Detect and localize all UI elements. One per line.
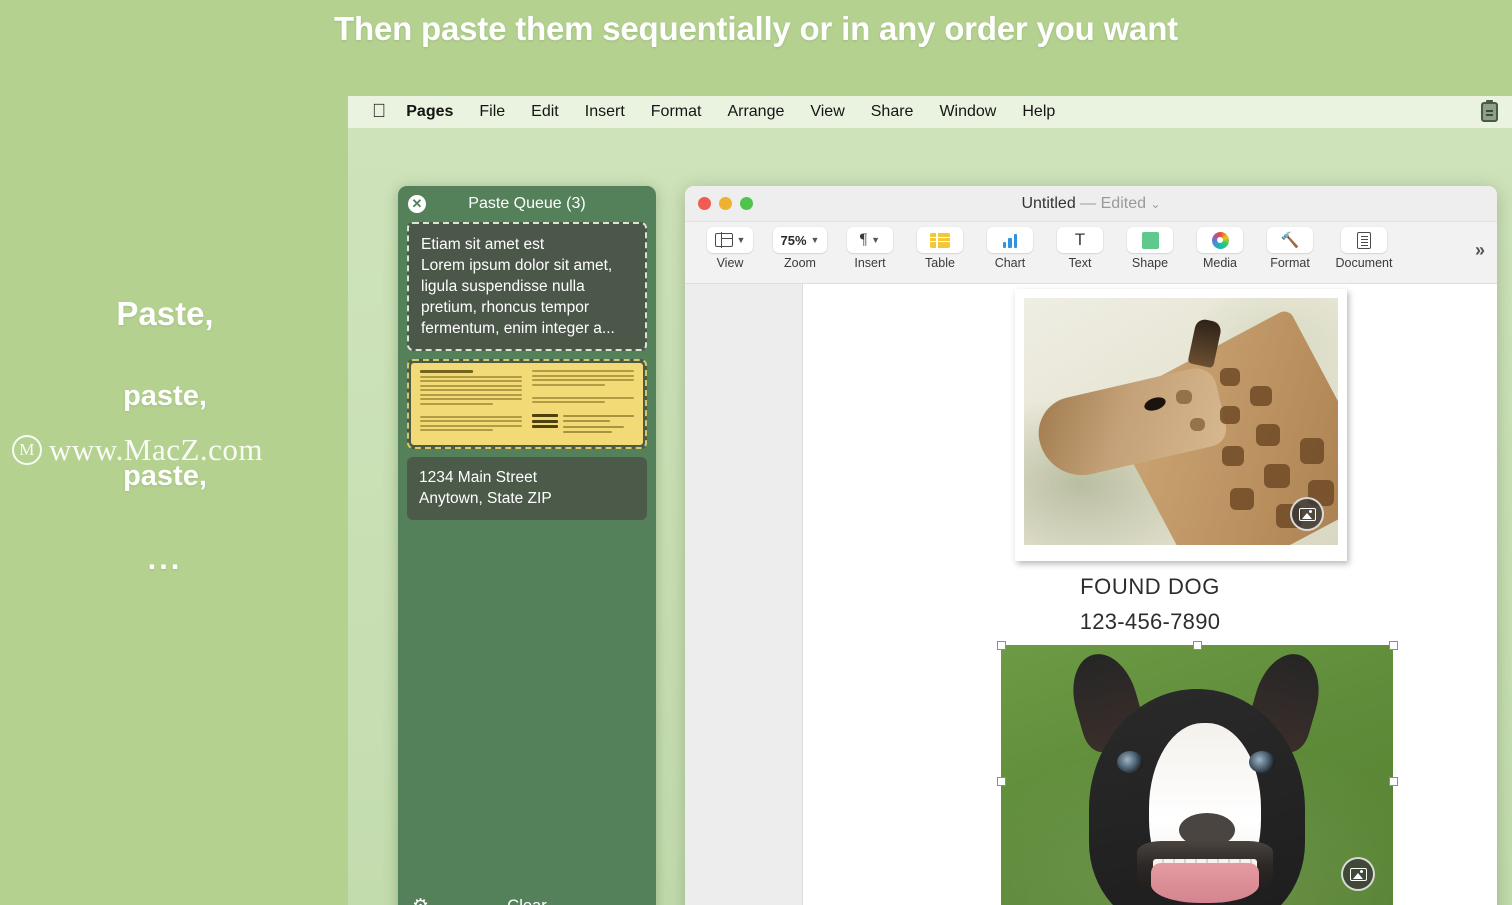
image-placeholder-icon[interactable] xyxy=(1341,857,1375,891)
chevron-down-icon[interactable]: ⌄ xyxy=(1150,197,1160,211)
page-title: Then paste them sequentially or in any o… xyxy=(0,10,1512,48)
pages-window: Untitled — Edited ⌄ ▼ View 75% ▼ xyxy=(685,186,1497,905)
window-title-state: Edited xyxy=(1101,195,1146,212)
queue-item-text-1[interactable]: Etiam sit amet est Lorem ipsum dolor sit… xyxy=(407,222,647,351)
selection-handle-middle-right[interactable] xyxy=(1389,777,1398,786)
menu-bar:  Pages File Edit Insert Format Arrange … xyxy=(348,96,1512,128)
toolbar-document-button[interactable]: Document xyxy=(1325,227,1403,270)
minimize-window-button[interactable] xyxy=(719,197,732,210)
traffic-lights xyxy=(685,197,753,210)
paste-line-1: Paste, xyxy=(0,295,330,333)
window-title-name: Untitled xyxy=(1021,195,1075,212)
toolbar-zoom-button[interactable]: 75% ▼ Zoom xyxy=(765,227,835,270)
queue-item-line: Lorem ipsum dolor sit amet, xyxy=(421,255,633,276)
thumbnail-column-right xyxy=(532,370,634,438)
toolbar-format-button[interactable]: 🔨 Format xyxy=(1255,227,1325,270)
thumbnail-column-left xyxy=(420,370,522,438)
format-brush-icon: 🔨 xyxy=(1267,227,1313,253)
text-icon: T xyxy=(1057,227,1103,253)
toolbar-format-label: Format xyxy=(1270,256,1310,270)
macz-watermark-text: www.MacZ.com xyxy=(49,432,263,468)
selection-handle-top-left[interactable] xyxy=(997,641,1006,650)
macz-watermark: M www.MacZ.com xyxy=(12,432,263,468)
toolbar-view-label: View xyxy=(717,256,744,270)
menu-item-pages[interactable]: Pages xyxy=(406,103,466,121)
clipboard-icon[interactable] xyxy=(1481,102,1498,122)
window-titlebar: Untitled — Edited ⌄ xyxy=(685,186,1497,222)
chart-icon xyxy=(987,227,1033,253)
toolbar-shape-button[interactable]: Shape xyxy=(1115,227,1185,270)
shape-icon xyxy=(1127,227,1173,253)
clear-button[interactable]: Clear xyxy=(398,897,656,905)
desktop: ✕ Paste Queue (3) Etiam sit amet est Lor… xyxy=(348,128,1512,905)
selection-handle-top-center[interactable] xyxy=(1193,641,1202,650)
chevron-down-icon: ▼ xyxy=(811,235,820,245)
zoom-window-button[interactable] xyxy=(740,197,753,210)
apple-icon[interactable]:  xyxy=(372,102,386,121)
paste-queue-title: Paste Queue (3) xyxy=(468,195,585,213)
giraffe-photo[interactable] xyxy=(1015,289,1347,561)
toolbar-media-button[interactable]: Media xyxy=(1185,227,1255,270)
menu-item-edit[interactable]: Edit xyxy=(518,103,572,121)
document-thumbnail xyxy=(411,363,643,445)
paste-line-2: paste, xyxy=(0,380,330,413)
toolbar-text-button[interactable]: T Text xyxy=(1045,227,1115,270)
window-title: Untitled — Edited ⌄ xyxy=(685,195,1497,213)
toolbar-shape-label: Shape xyxy=(1132,256,1168,270)
menu-bar-tray xyxy=(1481,102,1512,122)
toolbar-overflow-button[interactable]: » xyxy=(1475,240,1485,261)
toolbar-table-button[interactable]: Table xyxy=(905,227,975,270)
document-page[interactable]: FOUND DOG 123-456-7890 xyxy=(803,284,1497,905)
close-window-button[interactable] xyxy=(698,197,711,210)
toolbar-document-label: Document xyxy=(1336,256,1393,270)
menu-item-window[interactable]: Window xyxy=(926,103,1009,121)
document-caption-title: FOUND DOG xyxy=(803,574,1497,600)
gear-icon[interactable]: ⚙ xyxy=(412,897,429,905)
dog-photo[interactable] xyxy=(1001,645,1393,905)
toolbar-zoom-label: Zoom xyxy=(784,256,816,270)
zoom-value: 75% xyxy=(781,233,807,248)
table-icon xyxy=(917,227,963,253)
chevron-down-icon: ▼ xyxy=(871,235,880,245)
window-toolbar: ▼ View 75% ▼ Zoom ¶▼ Insert xyxy=(685,222,1497,284)
menu-item-format[interactable]: Format xyxy=(638,103,715,121)
window-title-separator: — xyxy=(1080,195,1096,212)
toolbar-text-label: Text xyxy=(1069,256,1092,270)
media-icon xyxy=(1197,227,1243,253)
menu-item-help[interactable]: Help xyxy=(1009,103,1068,121)
paste-queue-header: ✕ Paste Queue (3) xyxy=(398,186,656,222)
menu-item-share[interactable]: Share xyxy=(858,103,927,121)
chevron-down-icon: ▼ xyxy=(737,235,746,245)
selection-handle-top-right[interactable] xyxy=(1389,641,1398,650)
queue-item-document-2[interactable] xyxy=(407,359,647,449)
queue-item-line: fermentum, enim integer a... xyxy=(421,318,633,339)
queue-item-line: Etiam sit amet est xyxy=(421,234,633,255)
view-panel-icon: ▼ xyxy=(707,227,754,253)
menu-item-insert[interactable]: Insert xyxy=(572,103,638,121)
toolbar-chart-label: Chart xyxy=(995,256,1026,270)
toolbar-table-label: Table xyxy=(925,256,955,270)
queue-item-line: 1234 Main Street xyxy=(419,467,635,488)
macz-logo-icon: M xyxy=(12,435,42,465)
document-sidebar[interactable] xyxy=(685,284,803,905)
paste-queue-list: Etiam sit amet est Lorem ipsum dolor sit… xyxy=(398,222,656,884)
menu-item-file[interactable]: File xyxy=(466,103,518,121)
toolbar-view-button[interactable]: ▼ View xyxy=(695,227,765,270)
document-icon xyxy=(1341,227,1387,253)
zoom-icon: 75% ▼ xyxy=(773,227,828,253)
toolbar-chart-button[interactable]: Chart xyxy=(975,227,1045,270)
toolbar-insert-label: Insert xyxy=(854,256,885,270)
menu-item-arrange[interactable]: Arrange xyxy=(714,103,797,121)
image-placeholder-icon[interactable] xyxy=(1290,497,1324,531)
paste-queue-panel: ✕ Paste Queue (3) Etiam sit amet est Lor… xyxy=(398,186,656,905)
pilcrow-icon: ¶▼ xyxy=(847,227,893,253)
toolbar-insert-button[interactable]: ¶▼ Insert xyxy=(835,227,905,270)
queue-item-line: Anytown, State ZIP xyxy=(419,488,635,509)
queue-item-line: pretium, rhoncus tempor xyxy=(421,297,633,318)
paste-line-4: ... xyxy=(0,541,330,577)
menu-item-view[interactable]: View xyxy=(797,103,857,121)
giraffe-image xyxy=(1024,298,1338,545)
queue-item-text-3[interactable]: 1234 Main Street Anytown, State ZIP xyxy=(407,457,647,519)
window-content: FOUND DOG 123-456-7890 xyxy=(685,284,1497,905)
close-icon[interactable]: ✕ xyxy=(408,195,426,213)
mac-screen:  Pages File Edit Insert Format Arrange … xyxy=(348,96,1512,905)
document-caption-phone: 123-456-7890 xyxy=(803,609,1497,635)
queue-item-line: ligula suspendisse nulla xyxy=(421,276,633,297)
selection-handle-middle-left[interactable] xyxy=(997,777,1006,786)
toolbar-media-label: Media xyxy=(1203,256,1237,270)
paste-queue-footer: ⚙ Clear xyxy=(398,884,656,905)
